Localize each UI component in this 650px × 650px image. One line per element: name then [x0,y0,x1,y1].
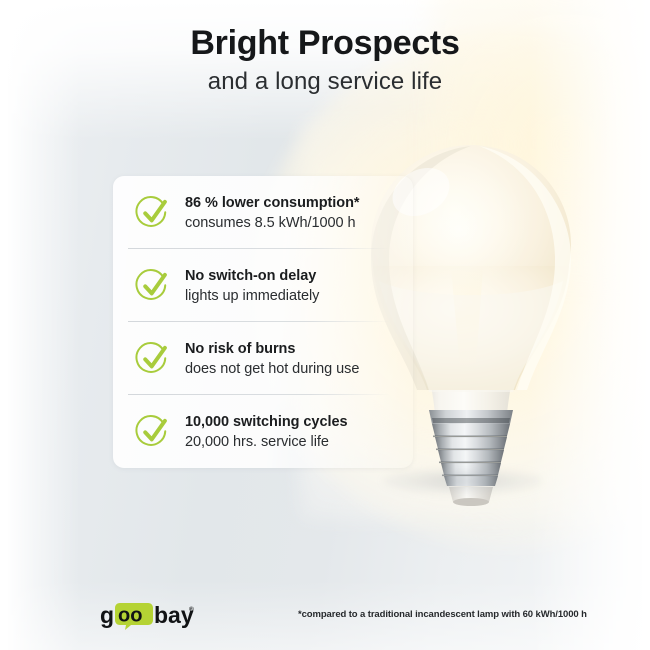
list-item-text: 10,000 switching cycles 20,000 hrs. serv… [185,412,413,452]
feature-list: 86 % lower consumption* consumes 8.5 kWh… [113,176,413,468]
list-item-title: No switch-on delay [185,266,413,286]
registered-trademark-icon: ® [189,605,194,613]
list-item-title: 10,000 switching cycles [185,412,413,432]
product-infographic: Bright Prospects and a long service life… [0,0,650,650]
goobay-logo-svg: g oo bay ® [100,601,198,631]
list-item-text: No risk of burns does not get hot during… [185,339,413,379]
bulb-drop-shadow [383,468,543,494]
list-item-subtitle: does not get hot during use [185,359,413,379]
list-item: No switch-on delay lights up immediately [113,249,413,322]
check-circle-icon [135,341,171,377]
logo-letters-bay: bay [154,602,194,628]
list-item-text: 86 % lower consumption* consumes 8.5 kWh… [185,193,413,233]
list-item: 86 % lower consumption* consumes 8.5 kWh… [113,176,413,249]
list-item-text: No switch-on delay lights up immediately [185,266,413,306]
list-item: No risk of burns does not get hot during… [113,322,413,395]
disclaimer-text: *compared to a traditional incandescent … [298,609,587,620]
page-title: Bright Prospects [0,24,650,63]
logo-letters-oo: oo [118,605,142,627]
list-item-title: 86 % lower consumption* [185,193,413,213]
check-circle-icon [135,195,171,231]
list-item-subtitle: lights up immediately [185,286,413,306]
page-subtitle: and a long service life [0,68,650,96]
list-item-subtitle: 20,000 hrs. service life [185,432,413,452]
logo-letter-g: g [100,602,114,628]
goobay-logo: g oo bay ® [100,601,198,627]
list-item-subtitle: consumes 8.5 kWh/1000 h [185,213,413,233]
check-circle-icon [135,414,171,450]
check-circle-icon [135,268,171,304]
list-item: 10,000 switching cycles 20,000 hrs. serv… [113,395,413,468]
list-item-title: No risk of burns [185,339,413,359]
